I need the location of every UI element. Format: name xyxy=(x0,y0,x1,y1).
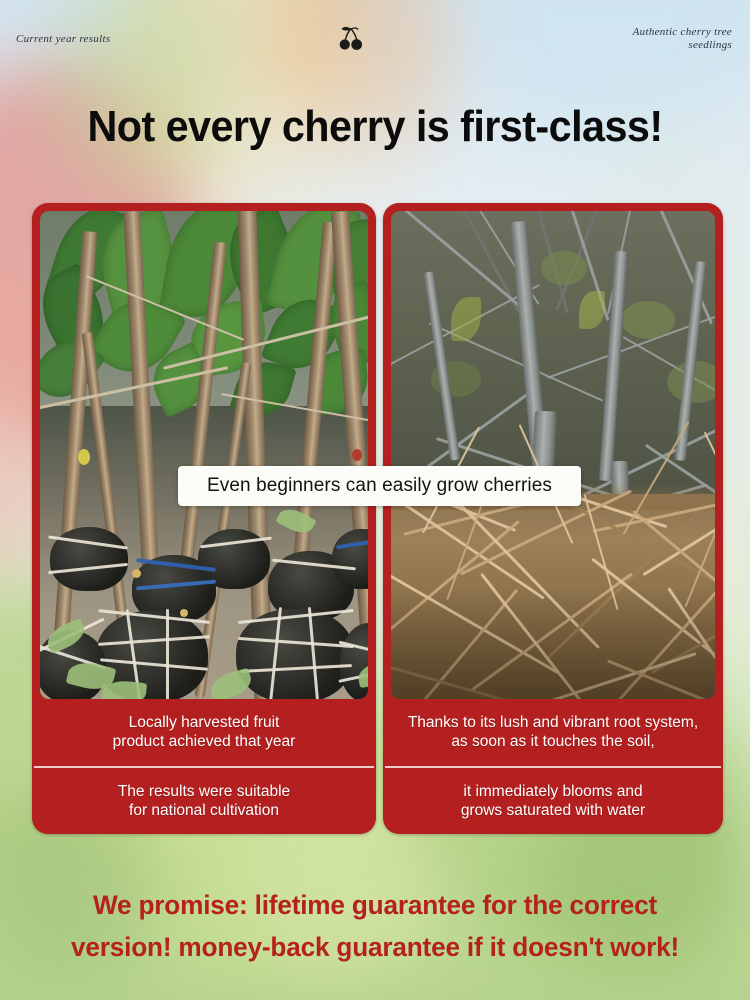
header-right-tagline-line2: seedlings xyxy=(633,39,732,52)
caption-left-1-line2: product achieved that year xyxy=(113,733,296,750)
captions-right: Thanks to its lush and vibrant root syst… xyxy=(383,699,723,834)
caption-right-1-line2: as soon as it touches the soil, xyxy=(451,733,654,750)
caption-divider-left xyxy=(34,766,374,768)
page-title: Not every cherry is first-class! xyxy=(23,103,728,151)
overlay-banner-text: Even beginners can easily grow cherries xyxy=(207,475,552,497)
caption-left-2: The results were suitable for national c… xyxy=(32,768,376,835)
header-bar: Current year results Authentic cherry tr… xyxy=(0,0,750,86)
panel-left: Locally harvested fruit product achieved… xyxy=(32,203,376,834)
caption-left-1-line1: Locally harvested fruit xyxy=(129,714,280,731)
caption-right-2-line1: it immediately blooms and xyxy=(463,783,642,800)
comparison-panels: Locally harvested fruit product achieved… xyxy=(32,203,723,834)
caption-left-2-line1: The results were suitable xyxy=(118,783,290,800)
photo-sapling-rootballs xyxy=(40,211,368,699)
promise-text: We promise: lifetime guarantee for the c… xyxy=(11,884,739,968)
caption-right-2: it immediately blooms and grows saturate… xyxy=(383,768,723,835)
captions-left: Locally harvested fruit product achieved… xyxy=(32,699,376,834)
cherry-icon xyxy=(334,23,368,57)
header-right-tagline-line1: Authentic cherry tree xyxy=(633,26,732,39)
promise-line2: version! money-back guarantee if it does… xyxy=(11,926,739,968)
caption-right-1: Thanks to its lush and vibrant root syst… xyxy=(383,699,723,766)
panel-right: Thanks to its lush and vibrant root syst… xyxy=(383,203,723,834)
photo-root-system xyxy=(391,211,715,699)
caption-left-2-line2: for national cultivation xyxy=(129,802,279,819)
caption-right-2-line2: grows saturated with water xyxy=(461,802,645,819)
promise-line1: We promise: lifetime guarantee for the c… xyxy=(11,884,739,926)
caption-divider-right xyxy=(385,766,721,768)
caption-right-1-line1: Thanks to its lush and vibrant root syst… xyxy=(408,714,698,731)
overlay-banner: Even beginners can easily grow cherries xyxy=(178,466,581,506)
header-left-tagline: Current year results xyxy=(16,33,110,45)
header-right-tagline: Authentic cherry tree seedlings xyxy=(633,26,732,52)
caption-left-1: Locally harvested fruit product achieved… xyxy=(32,699,376,766)
